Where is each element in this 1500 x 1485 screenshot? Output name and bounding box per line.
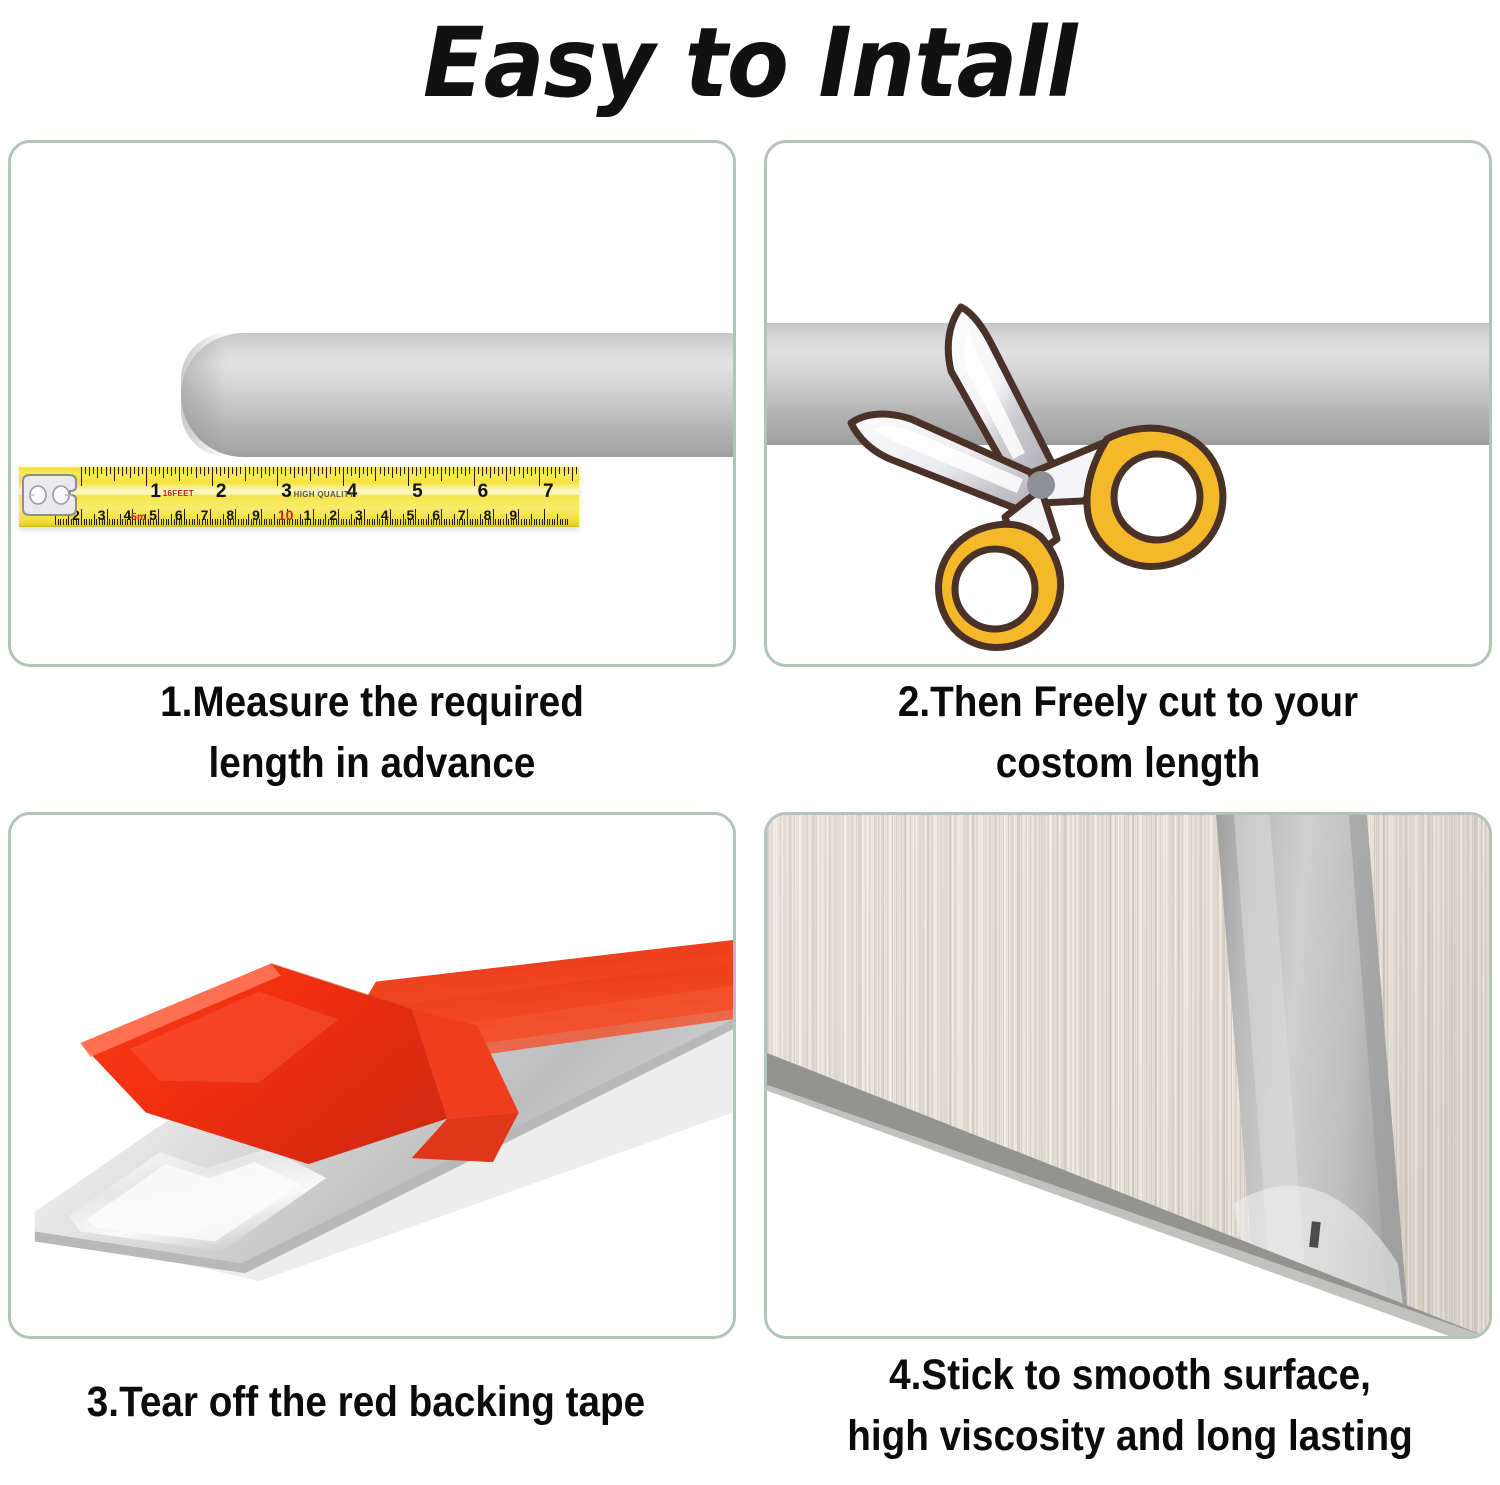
tape-tick-inch bbox=[277, 467, 278, 486]
tape-tick-cm bbox=[534, 519, 535, 525]
tape-tick-cm bbox=[351, 514, 352, 525]
tape-tick-cm bbox=[58, 519, 59, 525]
tape-tick-cm bbox=[480, 514, 481, 525]
tape-tick-cm bbox=[475, 519, 476, 525]
tape-tick-inch bbox=[400, 467, 401, 476]
tape-tick-inch bbox=[380, 467, 381, 474]
tape-tick-cm bbox=[449, 519, 450, 525]
tape-tick-cm bbox=[89, 519, 90, 525]
tape-tick-inch bbox=[298, 467, 299, 474]
tape-tick-cm bbox=[315, 519, 316, 525]
tape-tick-inch bbox=[445, 467, 446, 474]
step-caption-2: 2.Then Freely cut to your costom length bbox=[800, 672, 1455, 795]
tape-measure-icon: 1234567234567891012345678916FEET5mHIGH Q… bbox=[19, 465, 579, 527]
tape-tick-inch bbox=[163, 467, 164, 478]
tape-tick-cm bbox=[186, 519, 187, 525]
tape-tick-inch bbox=[535, 467, 536, 474]
tape-tick-cm bbox=[161, 519, 162, 525]
tape-label-inch: 1 bbox=[150, 482, 161, 501]
tape-tick-inch bbox=[437, 467, 438, 474]
tape-label-cm: 1 bbox=[304, 508, 312, 522]
tape-tick-cm bbox=[320, 519, 321, 525]
tape-tick-inch bbox=[240, 467, 241, 474]
tape-label-cm: 8 bbox=[484, 508, 492, 522]
tape-tick-cm bbox=[467, 509, 468, 525]
tape-label-cm: 4 bbox=[381, 508, 389, 522]
tape-tick-cm bbox=[248, 514, 249, 525]
tape-tick-inch bbox=[151, 467, 152, 474]
tape-tick-cm bbox=[274, 514, 275, 525]
tape-tick-cm bbox=[217, 519, 218, 525]
tape-tick-cm bbox=[500, 519, 501, 525]
tape-tick-inch bbox=[138, 467, 139, 476]
tape-tick-cm bbox=[372, 519, 373, 525]
tape-tick-cm bbox=[531, 514, 532, 525]
tape-tick-cm bbox=[374, 519, 375, 525]
tape-tick-inch bbox=[85, 467, 86, 474]
tape-tick-inch bbox=[359, 467, 360, 478]
tape-tick-inch bbox=[89, 467, 90, 476]
tape-tick-cm bbox=[557, 514, 558, 525]
tape-tick-inch bbox=[253, 467, 254, 476]
tape-tick-inch bbox=[453, 467, 454, 474]
tape-tick-inch bbox=[396, 467, 397, 474]
tape-tick-inch bbox=[322, 467, 323, 474]
tape-tick-cm bbox=[503, 519, 504, 525]
tape-tick-cm bbox=[428, 514, 429, 525]
tape-tick-cm bbox=[220, 519, 221, 525]
tape-tick-inch bbox=[486, 467, 487, 474]
tape-tick-inch bbox=[93, 467, 94, 474]
tape-tick-cm bbox=[452, 519, 453, 525]
tape-tick-inch bbox=[269, 467, 270, 476]
tape-tick-cm bbox=[117, 519, 118, 525]
tape-tick-inch bbox=[416, 467, 417, 476]
tape-tick-cm bbox=[518, 509, 519, 525]
step-caption-1: 1.Measure the required length in advance bbox=[44, 672, 699, 795]
adhesive-strip-icon bbox=[11, 815, 733, 1338]
tape-tick-cm bbox=[444, 519, 445, 525]
tape-tick-inch bbox=[146, 467, 147, 486]
tape-tick-cm bbox=[60, 519, 61, 525]
tape-label-inch: 6 bbox=[478, 482, 489, 501]
tape-tick-cm bbox=[271, 519, 272, 525]
tape-tick-inch bbox=[106, 467, 107, 476]
tape-tick-cm bbox=[549, 519, 550, 525]
tape-label-cm: 2 bbox=[329, 508, 337, 522]
step-caption-4: 4.Stick to smooth surface, high viscosit… bbox=[797, 1345, 1463, 1468]
tape-tick-inch bbox=[245, 467, 246, 481]
tape-tick-inch bbox=[363, 467, 364, 474]
tape-tick-cm bbox=[343, 519, 344, 525]
tape-tick-cm bbox=[269, 519, 270, 525]
tape-tick-cm bbox=[426, 519, 427, 525]
tape-tick-inch bbox=[175, 467, 176, 474]
tape-tick-cm bbox=[86, 519, 87, 525]
tape-tick-cm bbox=[470, 519, 471, 525]
tape-tick-cm bbox=[506, 514, 507, 525]
tape-tick-inch bbox=[187, 467, 188, 476]
tape-tick-inch bbox=[261, 467, 262, 478]
tape-tick-cm bbox=[390, 509, 391, 525]
tape-tick-cm bbox=[565, 519, 566, 525]
tape-tick-cm bbox=[472, 519, 473, 525]
tape-tick-cm bbox=[542, 519, 543, 525]
tape-tick-cm bbox=[454, 514, 455, 525]
tape-tick-inch bbox=[551, 467, 552, 474]
tape-tick-cm bbox=[539, 519, 540, 525]
tape-tick-inch bbox=[449, 467, 450, 476]
tape-tick-cm bbox=[560, 519, 561, 525]
tape-brand-text: 16FEET bbox=[163, 489, 194, 498]
tape-tick-cm bbox=[300, 514, 301, 525]
tape-tick-cm bbox=[163, 519, 164, 525]
tape-tick-inch bbox=[142, 467, 143, 474]
tape-tick-cm bbox=[423, 519, 424, 525]
tape-tick-cm bbox=[243, 519, 244, 525]
tape-tick-cm bbox=[241, 519, 242, 525]
step-caption-3: 3.Tear off the red backing tape bbox=[31, 1372, 701, 1433]
wood-floor-icon bbox=[767, 815, 1489, 1338]
tape-label-cm: 3 bbox=[98, 508, 106, 522]
tape-tick-inch bbox=[404, 467, 405, 474]
tape-tick-inch bbox=[510, 467, 511, 474]
tape-tick-cm bbox=[338, 509, 339, 525]
tape-tick-cm bbox=[109, 519, 110, 525]
tape-tick-inch bbox=[310, 467, 311, 481]
tape-tick-inch bbox=[457, 467, 458, 478]
tape-tick-inch bbox=[183, 467, 184, 474]
tape-tick-inch bbox=[367, 467, 368, 476]
tape-tick-cm bbox=[81, 509, 82, 525]
tape-tick-inch bbox=[388, 467, 389, 474]
tape-tick-inch bbox=[330, 467, 331, 474]
tape-tick-inch bbox=[118, 467, 119, 474]
tape-tick-cm bbox=[235, 509, 236, 525]
tape-tick-inch bbox=[392, 467, 393, 478]
tape-tick-cm bbox=[567, 519, 568, 525]
tape-tick-inch bbox=[101, 467, 102, 474]
tape-tick-cm bbox=[441, 509, 442, 525]
tape-tick-inch bbox=[228, 467, 229, 478]
tape-tick-cm bbox=[261, 509, 262, 525]
tape-tick-cm bbox=[367, 519, 368, 525]
tape-label-cm: 6 bbox=[432, 508, 440, 522]
tape-tick-inch bbox=[408, 467, 409, 486]
tape-tick-inch bbox=[543, 467, 544, 474]
tape-tick-inch bbox=[576, 467, 577, 474]
tape-tick-cm bbox=[246, 519, 247, 525]
tape-tick-cm bbox=[313, 509, 314, 525]
tape-tick-cm bbox=[266, 519, 267, 525]
tape-tick-inch bbox=[265, 467, 266, 474]
tape-tick-inch bbox=[355, 467, 356, 474]
tape-tick-inch bbox=[122, 467, 123, 476]
tape-tick-cm bbox=[498, 519, 499, 525]
tape-tick-inch bbox=[196, 467, 197, 478]
tape-tick-inch bbox=[171, 467, 172, 476]
tape-tick-inch bbox=[461, 467, 462, 474]
tape-label-inch: 5 bbox=[412, 482, 423, 501]
tape-tick-inch bbox=[212, 467, 213, 486]
tape-tick-cm bbox=[346, 519, 347, 525]
tape-tick-inch bbox=[433, 467, 434, 476]
tape-tick-inch bbox=[351, 467, 352, 476]
tape-tick-inch bbox=[412, 467, 413, 474]
tape-tick-inch bbox=[191, 467, 192, 474]
tape-tick-cm bbox=[524, 519, 525, 525]
tape-tick-cm bbox=[194, 519, 195, 525]
tape-tick-cm bbox=[349, 519, 350, 525]
tape-tick-cm bbox=[158, 509, 159, 525]
tape-tick-inch bbox=[114, 467, 115, 481]
tape-tick-cm bbox=[107, 509, 108, 525]
tape-tick-cm bbox=[192, 519, 193, 525]
tape-tick-cm bbox=[421, 519, 422, 525]
tape-tick-cm bbox=[114, 519, 115, 525]
tape-tick-inch bbox=[326, 467, 327, 478]
tape-tick-cm bbox=[215, 519, 216, 525]
tape-tick-inch bbox=[519, 467, 520, 474]
tape-tick-inch bbox=[97, 467, 98, 478]
tape-tick-inch bbox=[318, 467, 319, 476]
tape-label-inch: 3 bbox=[281, 482, 292, 501]
tape-tick-inch bbox=[482, 467, 483, 476]
page-title-container: Easy to Intall bbox=[0, 0, 1500, 126]
tape-tick-inch bbox=[384, 467, 385, 476]
tape-tick-cm bbox=[554, 519, 555, 525]
step-panel-cut bbox=[764, 140, 1492, 667]
tape-tick-cm bbox=[377, 514, 378, 525]
tape-label-inch: 7 bbox=[543, 482, 554, 501]
tape-tick-cm bbox=[544, 509, 545, 525]
tape-label-cm: 3 bbox=[355, 508, 363, 522]
tape-tick-inch bbox=[110, 467, 111, 474]
tape-tick-inch bbox=[371, 467, 372, 474]
tape-tick-cm bbox=[189, 519, 190, 525]
tape-tick-cm bbox=[521, 519, 522, 525]
tape-tick-inch bbox=[130, 467, 131, 478]
tape-tick-inch bbox=[204, 467, 205, 476]
tape-tick-inch bbox=[564, 467, 565, 476]
step-panel-peel bbox=[8, 812, 736, 1339]
tape-tick-inch bbox=[347, 467, 348, 474]
tape-tick-cm bbox=[238, 519, 239, 525]
tape-tick-inch bbox=[257, 467, 258, 474]
tape-tick-inch bbox=[490, 467, 491, 478]
tape-label-cm: 10 bbox=[278, 508, 294, 522]
tape-tick-inch bbox=[429, 467, 430, 474]
tape-tick-cm bbox=[536, 519, 537, 525]
tape-tick-inch bbox=[273, 467, 274, 474]
tape-tick-cm bbox=[120, 514, 121, 525]
tape-tick-inch bbox=[216, 467, 217, 474]
tape-tick-inch bbox=[339, 467, 340, 474]
tape-tick-inch bbox=[547, 467, 548, 476]
tape-tick-cm bbox=[297, 519, 298, 525]
tape-tick-inch bbox=[474, 467, 475, 486]
tape-tick-cm bbox=[552, 519, 553, 525]
tape-tick-inch bbox=[220, 467, 221, 476]
tape-tick-cm bbox=[364, 509, 365, 525]
tape-tick-cm bbox=[392, 519, 393, 525]
tape-label-inch: 2 bbox=[216, 482, 227, 501]
tape-tick-cm bbox=[168, 519, 169, 525]
tape-label-cm: 9 bbox=[509, 508, 517, 522]
tape-tick-cm bbox=[529, 519, 530, 525]
tape-tick-inch bbox=[527, 467, 528, 474]
tape-tick-inch bbox=[314, 467, 315, 474]
tape-tick-inch bbox=[555, 467, 556, 478]
tape-tick-cm bbox=[397, 519, 398, 525]
tape-tick-inch bbox=[375, 467, 376, 481]
tape-tick-inch bbox=[425, 467, 426, 478]
tape-tick-cm bbox=[295, 519, 296, 525]
tape-tick-inch bbox=[441, 467, 442, 481]
tape-tick-cm bbox=[166, 519, 167, 525]
tape-tick-cm bbox=[415, 509, 416, 525]
tape-label-cm: 5 bbox=[406, 508, 414, 522]
tape-tick-inch bbox=[306, 467, 307, 474]
tape-tick-inch bbox=[506, 467, 507, 481]
tape-tick-inch bbox=[514, 467, 515, 476]
tape-tick-cm bbox=[400, 519, 401, 525]
tape-tick-inch bbox=[469, 467, 470, 474]
step-panel-stick bbox=[764, 812, 1492, 1339]
tape-tick-inch bbox=[559, 467, 560, 474]
tape-label-cm: 5 bbox=[149, 508, 157, 522]
tape-tick-cm bbox=[63, 519, 64, 525]
tape-tick-cm bbox=[495, 519, 496, 525]
tape-tick-cm bbox=[493, 509, 494, 525]
tape-tick-inch bbox=[420, 467, 421, 474]
tape-tick-inch bbox=[494, 467, 495, 474]
tape-tick-cm bbox=[341, 519, 342, 525]
tape-tick-inch bbox=[224, 467, 225, 474]
tape-tick-inch bbox=[539, 467, 540, 486]
tape-tick-cm bbox=[66, 519, 67, 525]
tape-tick-inch bbox=[232, 467, 233, 474]
tape-tick-cm bbox=[171, 514, 172, 525]
tape-tick-cm bbox=[477, 519, 478, 525]
tape-tick-cm bbox=[369, 519, 370, 525]
tape-tick-cm bbox=[210, 509, 211, 525]
tape-tick-cm bbox=[418, 519, 419, 525]
tape-label-cm: 6 bbox=[175, 508, 183, 522]
tape-tick-inch bbox=[572, 467, 573, 481]
tape-tick-inch bbox=[236, 467, 237, 476]
tape-label-cm: 7 bbox=[201, 508, 209, 522]
tape-tick-inch bbox=[502, 467, 503, 474]
step-panel-measure: 1234567234567891012345678916FEET5mHIGH Q… bbox=[8, 140, 736, 667]
tape-brand-text: 5m bbox=[131, 512, 146, 523]
tape-tick-inch bbox=[281, 467, 282, 474]
tape-label-cm: 8 bbox=[226, 508, 234, 522]
tape-tick-cm bbox=[323, 519, 324, 525]
tape-label-cm: 9 bbox=[252, 508, 260, 522]
tape-tick-inch bbox=[179, 467, 180, 481]
tape-tick-inch bbox=[134, 467, 135, 474]
tape-tick-inch bbox=[126, 467, 127, 474]
tape-tick-inch bbox=[249, 467, 250, 474]
tape-tick-cm bbox=[325, 514, 326, 525]
tape-tick-inch bbox=[568, 467, 569, 474]
tape-tick-cm bbox=[94, 514, 95, 525]
tape-brand-text: HIGH QUALITY bbox=[294, 490, 355, 499]
tape-tick-inch bbox=[478, 467, 479, 474]
tape-tick-inch bbox=[531, 467, 532, 476]
tape-tick-inch bbox=[294, 467, 295, 478]
tape-hook-icon bbox=[19, 471, 81, 519]
tape-tick-cm bbox=[562, 519, 563, 525]
page-title: Easy to Intall bbox=[423, 15, 1077, 111]
tape-tick-inch bbox=[167, 467, 168, 474]
tape-tick-cm bbox=[197, 514, 198, 525]
tape-tick-inch bbox=[498, 467, 499, 476]
tape-label-cm: 4 bbox=[123, 508, 131, 522]
scissors-icon bbox=[845, 289, 1285, 667]
tape-tick-cm bbox=[446, 519, 447, 525]
tape-tick-cm bbox=[91, 519, 92, 525]
tape-tick-cm bbox=[223, 514, 224, 525]
tape-tick-cm bbox=[84, 519, 85, 525]
tape-tick-inch bbox=[159, 467, 160, 474]
tape-tick-inch bbox=[290, 467, 291, 474]
tape-tick-cm bbox=[112, 519, 113, 525]
tape-tick-inch bbox=[200, 467, 201, 474]
tape-tick-cm bbox=[403, 514, 404, 525]
tape-tick-inch bbox=[81, 467, 82, 486]
tape-tick-inch bbox=[155, 467, 156, 476]
tape-tick-inch bbox=[335, 467, 336, 476]
tape-tick-cm bbox=[264, 519, 265, 525]
tape-tick-inch bbox=[343, 467, 344, 486]
tape-tick-inch bbox=[302, 467, 303, 476]
tape-label-cm: 7 bbox=[458, 508, 466, 522]
tape-tick-cm bbox=[184, 509, 185, 525]
tape-tick-cm bbox=[395, 519, 396, 525]
tape-tick-cm bbox=[212, 519, 213, 525]
tape-tick-cm bbox=[318, 519, 319, 525]
tape-tick-cm bbox=[526, 519, 527, 525]
tape-tick-cm bbox=[547, 519, 548, 525]
pipe-icon bbox=[181, 333, 736, 457]
tape-tick-inch bbox=[285, 467, 286, 476]
tape-tick-inch bbox=[208, 467, 209, 474]
tape-tick-inch bbox=[465, 467, 466, 476]
tape-tick-inch bbox=[523, 467, 524, 478]
